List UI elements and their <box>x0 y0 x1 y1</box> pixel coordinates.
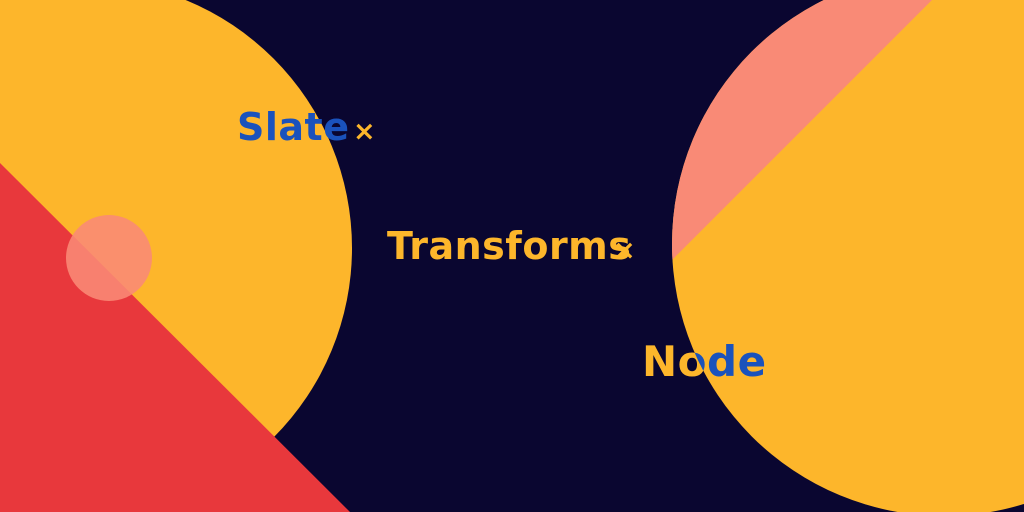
poster-canvas: Slate × Transforms × Node Node <box>0 0 1024 512</box>
background-artwork: Slate × Transforms × Node Node <box>0 0 1024 512</box>
label-transforms[interactable]: Transforms <box>387 224 631 268</box>
label-slate[interactable]: Slate <box>237 105 349 149</box>
label-node-over-salmon[interactable]: Node <box>642 337 767 386</box>
slate-close-icon[interactable]: × <box>353 116 376 147</box>
small-salmon-circle <box>66 215 152 301</box>
transforms-close-icon[interactable]: × <box>613 235 636 266</box>
